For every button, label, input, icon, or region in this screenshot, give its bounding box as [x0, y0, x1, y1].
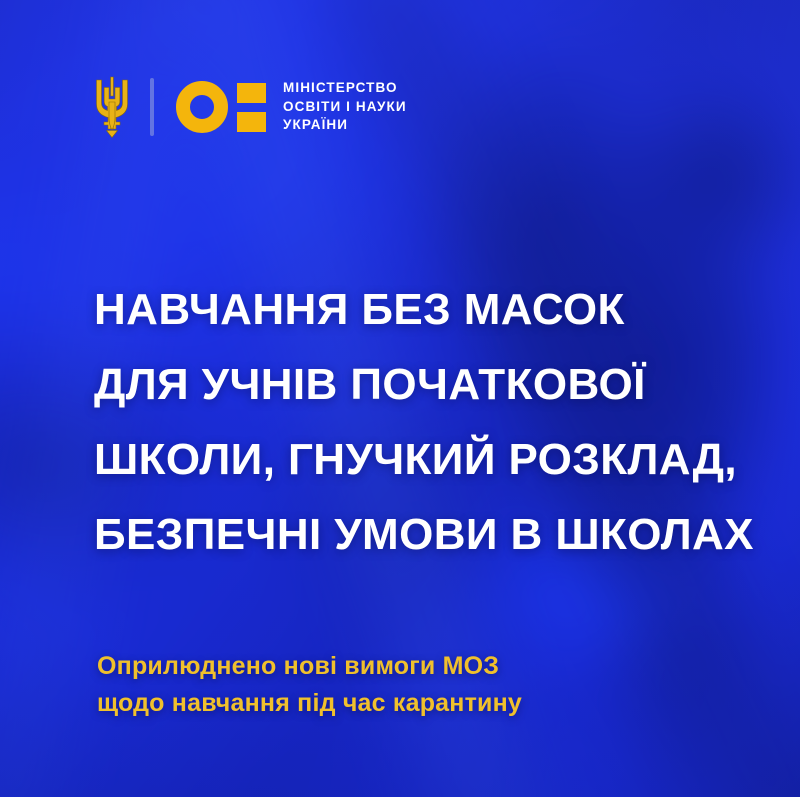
- poster-canvas: МІНІСТЕРСТВО ОСВІТИ І НАУКИ УКРАЇНИ НАВЧ…: [0, 0, 800, 797]
- mon-equals-bar-bottom: [237, 112, 266, 132]
- logo-divider: [150, 78, 154, 136]
- mon-monogram-icon: [176, 81, 266, 133]
- subtitle-line-1: Оприлюднено нові вимоги МОЗ: [97, 648, 777, 685]
- ukraine-tryzub-emblem: [92, 73, 132, 141]
- mon-equals-bar-top: [237, 83, 266, 103]
- subtitle-line-2: щодо навчання під час карантину: [97, 685, 777, 722]
- headline-line-1: НАВЧАННЯ БЕЗ МАСОК: [94, 272, 794, 347]
- mon-equals-icon: [237, 83, 266, 132]
- headline-line-3: ШКОЛИ, ГНУЧКИЙ РОЗКЛАД,: [94, 422, 794, 497]
- headline-line-2: ДЛЯ УЧНІВ ПОЧАТКОВОЇ: [94, 347, 794, 422]
- mon-circle-o-icon: [176, 81, 228, 133]
- ministry-logo-lockup: МІНІСТЕРСТВО ОСВІТИ І НАУКИ УКРАЇНИ: [92, 68, 407, 146]
- ministry-name-line-3: УКРАЇНИ: [283, 116, 407, 135]
- headline: НАВЧАННЯ БЕЗ МАСОК ДЛЯ УЧНІВ ПОЧАТКОВОЇ …: [94, 272, 794, 572]
- poster-content: МІНІСТЕРСТВО ОСВІТИ І НАУКИ УКРАЇНИ НАВЧ…: [0, 0, 800, 797]
- headline-line-4: БЕЗПЕЧНІ УМОВИ В ШКОЛАХ: [94, 497, 794, 572]
- subtitle: Оприлюднено нові вимоги МОЗ щодо навчанн…: [97, 648, 777, 722]
- ministry-name-line-2: ОСВІТИ І НАУКИ: [283, 98, 407, 117]
- ministry-name-text: МІНІСТЕРСТВО ОСВІТИ І НАУКИ УКРАЇНИ: [283, 79, 407, 135]
- ministry-name-line-1: МІНІСТЕРСТВО: [283, 79, 407, 98]
